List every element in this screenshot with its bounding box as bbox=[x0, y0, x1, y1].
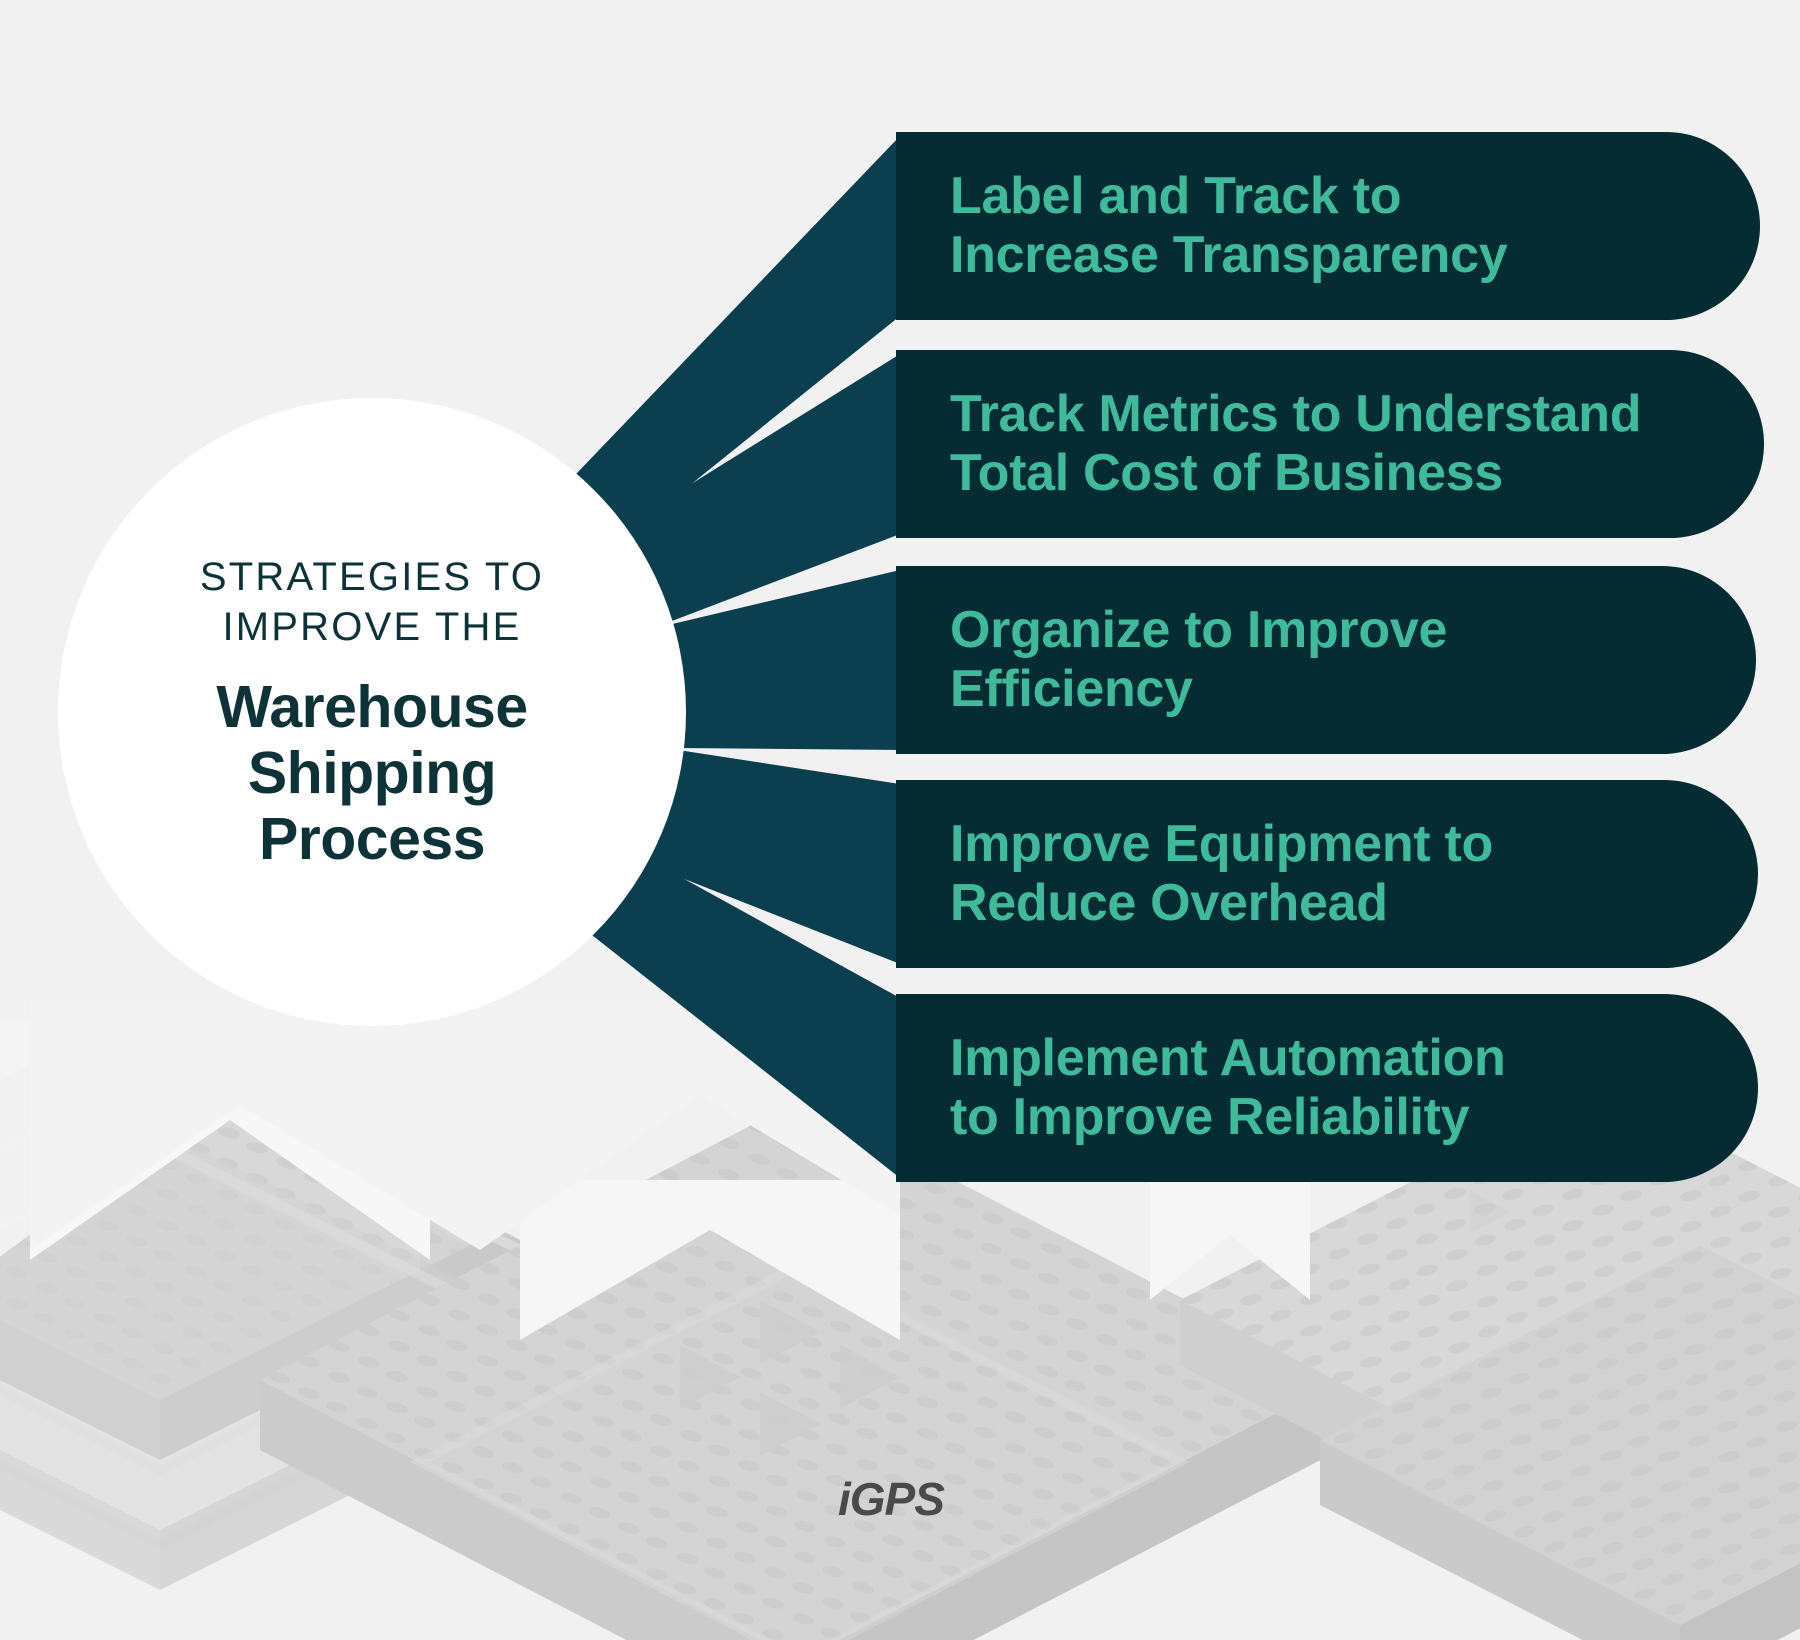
strategy-bar-1[interactable]: Label and Track to Increase Transparency bbox=[896, 132, 1760, 320]
strategy-label-4: Improve Equipment to Reduce Overhead bbox=[950, 815, 1493, 934]
strategy-label-2: Track Metrics to Understand Total Cost o… bbox=[950, 385, 1641, 504]
center-title-text: Warehouse Shipping Process bbox=[216, 674, 527, 872]
strategy-bar-5[interactable]: Implement Automation to Improve Reliabil… bbox=[896, 994, 1758, 1182]
strategy-bar-3[interactable]: Organize to Improve Efficiency bbox=[896, 566, 1756, 754]
strategy-label-3: Organize to Improve Efficiency bbox=[950, 601, 1447, 720]
infographic-canvas: STRATEGIES TO IMPROVE THE Warehouse Ship… bbox=[0, 0, 1800, 1640]
igps-logo: iGPS bbox=[838, 1472, 944, 1526]
strategy-bar-4[interactable]: Improve Equipment to Reduce Overhead bbox=[896, 780, 1758, 968]
strategy-label-5: Implement Automation to Improve Reliabil… bbox=[950, 1029, 1505, 1148]
center-kicker-text: STRATEGIES TO IMPROVE THE bbox=[200, 552, 544, 652]
center-circle-card: STRATEGIES TO IMPROVE THE Warehouse Ship… bbox=[104, 444, 640, 980]
strategy-label-1: Label and Track to Increase Transparency bbox=[950, 167, 1507, 286]
strategy-bar-2[interactable]: Track Metrics to Understand Total Cost o… bbox=[896, 350, 1764, 538]
